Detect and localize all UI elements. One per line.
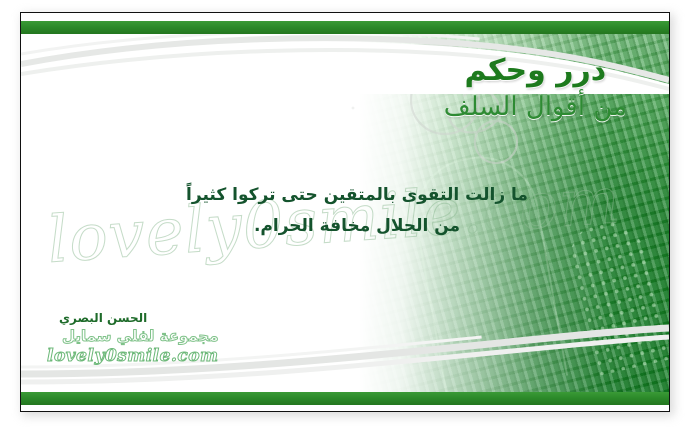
brand-name-arabic: مجموعة لفلي سمايل	[47, 329, 219, 345]
poster-canvas: lovely0smile.com درر وحكم من أقوال السلف…	[21, 34, 669, 392]
poster-card: lovely0smile.com درر وحكم من أقوال السلف…	[20, 12, 670, 412]
top-green-rail	[21, 21, 669, 34]
brand-website: lovely0smile.com	[47, 348, 219, 366]
brand-footer: مجموعة لفلي سمايل lovely0smile.com	[47, 329, 219, 366]
page-title: درر وحكم	[444, 56, 627, 86]
poster-page: lovely0smile.com درر وحكم من أقوال السلف…	[0, 0, 692, 432]
bottom-green-rail	[21, 392, 669, 405]
quote-text: ما زالت التقوى بالمتقين حتى تركوا كثيراً…	[107, 180, 607, 243]
quote-attribution: الحسن البصري	[59, 311, 147, 325]
quote-line-2: من الحلال مخافة الحرام.	[107, 211, 607, 242]
page-subtitle: من أقوال السلف	[444, 94, 627, 120]
quote-line-1: ما زالت التقوى بالمتقين حتى تركوا كثيراً	[107, 180, 607, 211]
poster-header: درر وحكم من أقوال السلف	[444, 56, 627, 120]
